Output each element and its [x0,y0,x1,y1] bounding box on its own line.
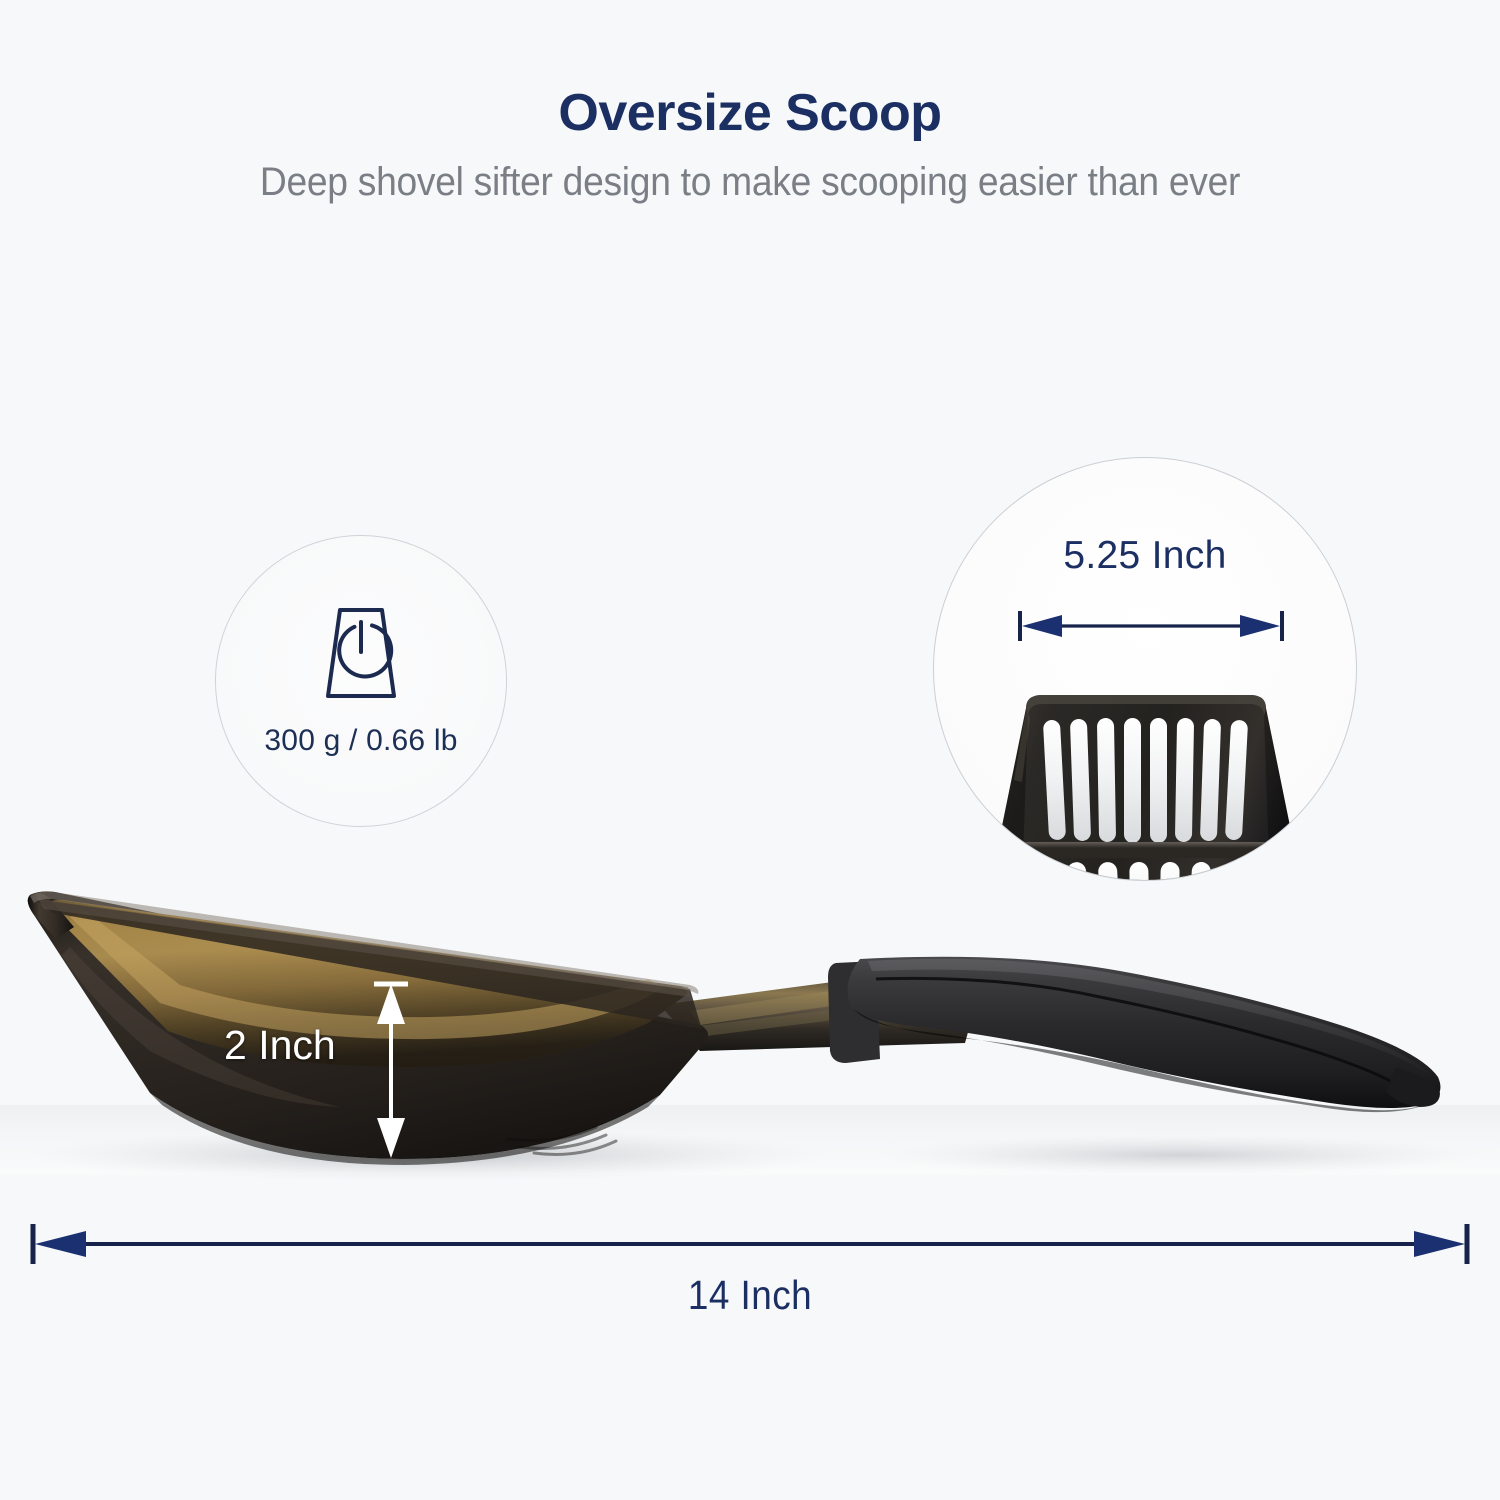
weight-badge: 300 g / 0.66 lb [215,535,507,827]
sifter-dimension-label: 5.25 Inch [934,534,1356,578]
weight-label: 300 g / 0.66 lb [264,724,457,758]
length-dimension-arrow [30,1222,1470,1266]
sifter-slots-photo [962,690,1330,881]
page-title: Oversize Scoop [0,84,1500,142]
page-subtitle: Deep shovel sifter design to make scoopi… [53,158,1448,206]
header-block: Oversize Scoop Deep shovel sifter design… [0,84,1500,206]
depth-dimension-arrow [368,978,414,1164]
depth-dimension-label: 2 Inch [224,1022,336,1069]
weight-scale-icon [302,604,420,700]
length-dimension-label: 14 Inch [75,1272,1425,1319]
sifter-dimension-arrow [1016,608,1286,644]
marketing-image-canvas: Oversize Scoop Deep shovel sifter design… [0,0,1500,1500]
sifter-callout-circle: 5.25 Inch [933,457,1357,881]
